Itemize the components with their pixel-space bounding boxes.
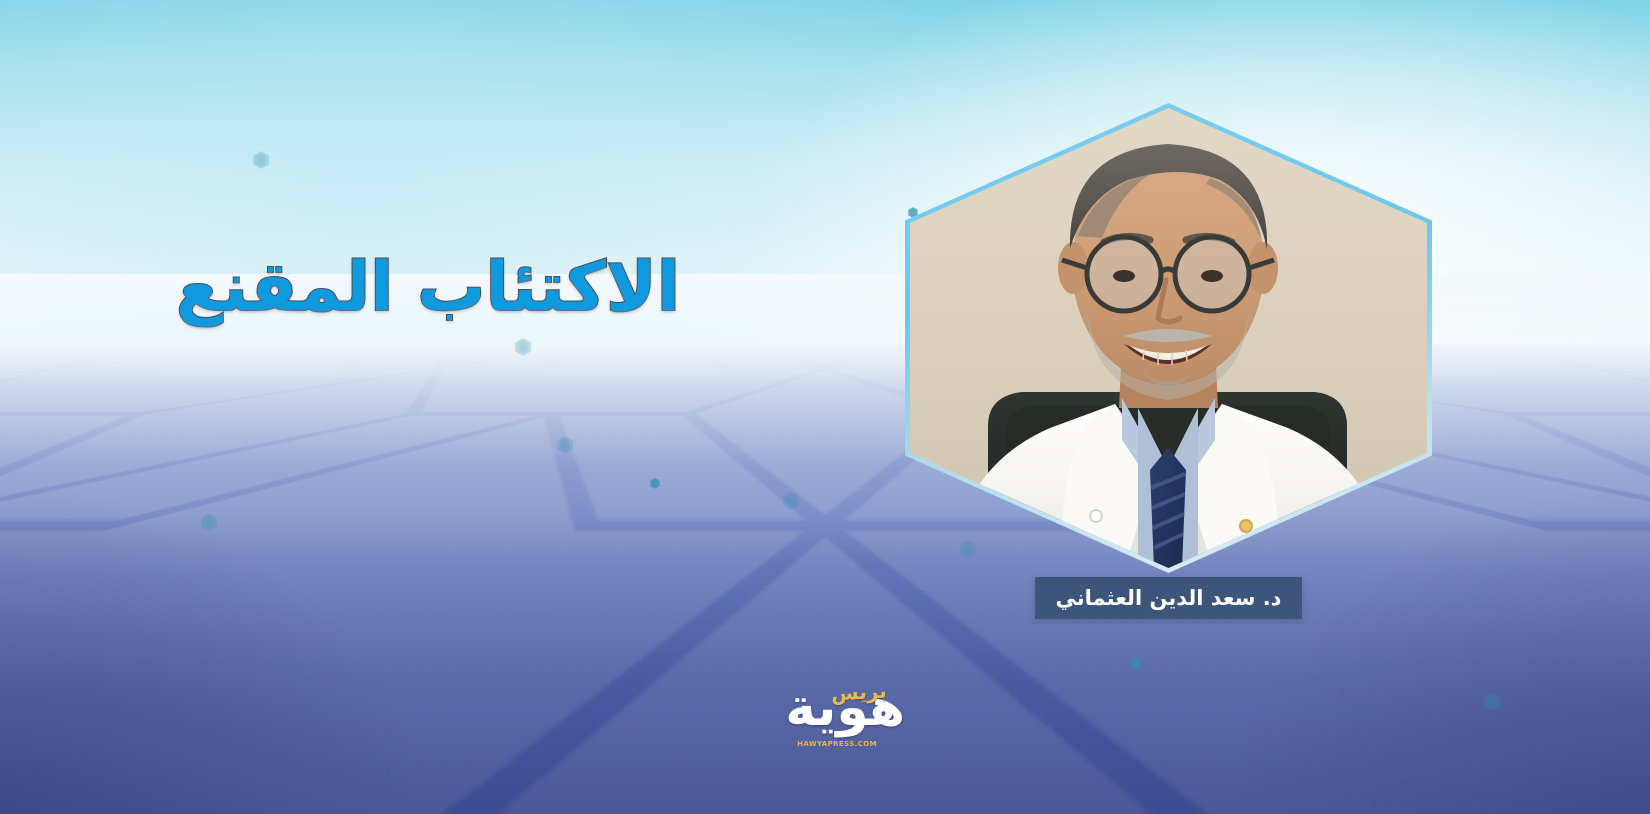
speaker-name-badge: د. سعد الدين العثماني <box>1035 577 1302 619</box>
coat-button <box>1240 520 1252 532</box>
doctor-portrait-photo <box>910 108 1427 568</box>
logo-sub-text: بريس <box>831 681 888 704</box>
speaker-name: د. سعد الدين العثماني <box>1056 586 1282 610</box>
hexagon-photo-clip <box>910 108 1427 568</box>
site-logo[interactable]: هوية بريس HAWYAPRESS.COM <box>735 672 905 752</box>
page-title: الاكتئاب المقنع <box>176 248 680 327</box>
portrait-hexagon-frame <box>905 103 1432 573</box>
banner-stage: الاكتئاب المقنع <box>0 0 1650 814</box>
logo-url-text: HAWYAPRESS.COM <box>797 740 877 748</box>
portrait-illustration <box>910 108 1427 568</box>
coat-button <box>1090 510 1102 522</box>
